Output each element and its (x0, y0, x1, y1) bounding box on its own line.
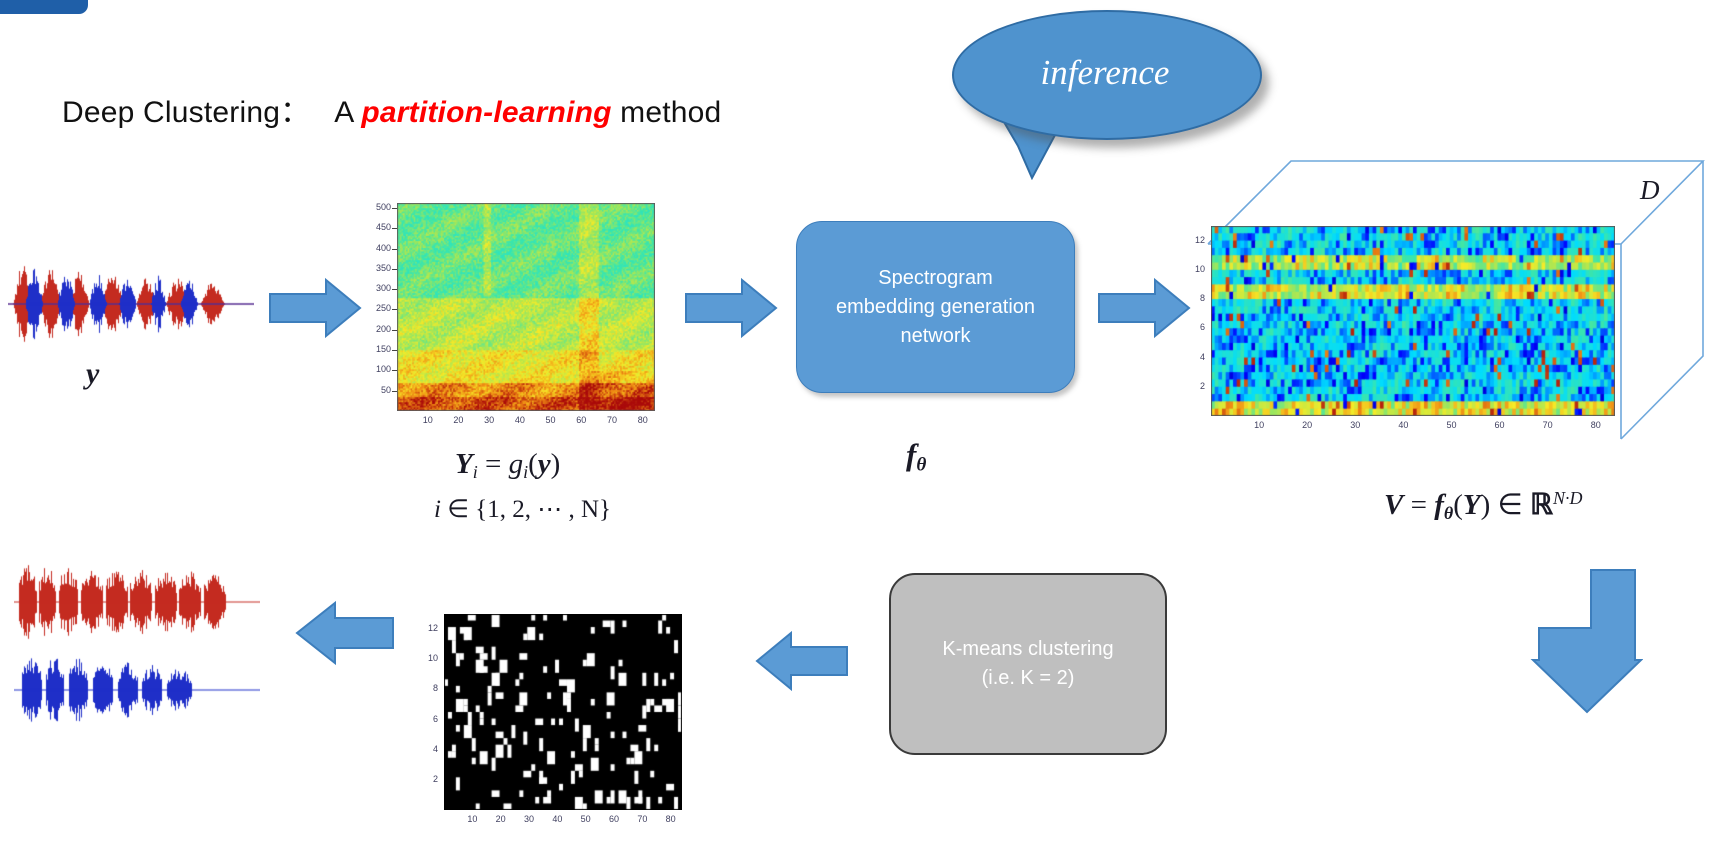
axis-tick-mark (392, 370, 397, 371)
axis-tick-mark (392, 309, 397, 310)
axis-tick-label: 60 (1491, 420, 1509, 430)
axis-tick-label: 4 (420, 744, 438, 754)
network-box-line2: embedding generation (836, 293, 1035, 322)
axis-tick-label: 150 (367, 344, 391, 354)
axis-tick-label: 50 (542, 415, 560, 425)
axis-tick-label: 250 (367, 303, 391, 313)
embedding-equation: V = fθ(Y) ∈ ℝN·D (1384, 487, 1582, 524)
axis-tick-label: 2 (420, 774, 438, 784)
index-set-equation: i ∈ {1, 2, ⋯ , N} (434, 494, 611, 524)
cube-depth-label: D (1640, 175, 1660, 206)
arrow-left-icon-1 (755, 630, 849, 692)
axis-tick-label: 30 (480, 415, 498, 425)
axis-tick-label: 30 (1346, 420, 1364, 430)
axis-tick-mark (392, 289, 397, 290)
axis-tick-mark (392, 391, 397, 392)
axis-tick-label: 350 (367, 263, 391, 273)
arrow-right-icon-1 (268, 277, 362, 339)
title-part-b: method (612, 96, 722, 129)
axis-tick-label: 100 (367, 364, 391, 374)
axis-tick-mark (392, 208, 397, 209)
network-box[interactable]: Spectrogram embedding generation network (796, 221, 1075, 393)
axis-tick-label: 50 (367, 385, 391, 395)
axis-tick-label: 2 (1185, 381, 1205, 391)
kmeans-box[interactable]: K-means clustering (i.e. K = 2) (889, 573, 1167, 755)
bubble-label: inference (952, 10, 1258, 136)
page-title: Deep Clustering： A partition-learning me… (62, 87, 721, 131)
arrow-right-icon-2 (684, 277, 778, 339)
axis-tick-label: 20 (492, 814, 510, 824)
binary-mask-plot (444, 614, 682, 810)
axis-tick-label: 80 (662, 814, 680, 824)
axis-tick-label: 60 (605, 814, 623, 824)
axis-tick-label: 30 (520, 814, 538, 824)
kmeans-box-line2: (i.e. K = 2) (942, 664, 1113, 693)
axis-tick-label: 10 (1185, 264, 1205, 274)
axis-tick-label: 10 (463, 814, 481, 824)
arrow-elbow-down-left-icon (1513, 568, 1643, 714)
corner-tab-decoration (0, 0, 88, 14)
axis-tick-label: 10 (420, 653, 438, 663)
spectrogram-equation: Yi = gi(y) (455, 448, 560, 483)
axis-tick-label: 8 (1185, 293, 1205, 303)
separated-waveform-2-plot (14, 648, 260, 732)
axis-tick-label: 6 (420, 714, 438, 724)
axis-tick-label: 12 (420, 623, 438, 633)
axis-tick-label: 80 (1587, 420, 1605, 430)
kmeans-box-line1: K-means clustering (942, 635, 1113, 664)
axis-tick-label: 70 (603, 415, 621, 425)
network-box-line3: network (836, 322, 1035, 351)
axis-tick-label: 20 (449, 415, 467, 425)
axis-tick-label: 200 (367, 324, 391, 334)
axis-tick-label: 6 (1185, 322, 1205, 332)
arrow-right-icon-3 (1097, 277, 1191, 339)
arrow-left-icon-2 (295, 600, 395, 666)
axis-tick-mark (392, 350, 397, 351)
input-waveform-label: y (86, 357, 99, 391)
title-part-a: A (334, 96, 361, 129)
axis-tick-label: 50 (1442, 420, 1460, 430)
axis-tick-label: 40 (511, 415, 529, 425)
axis-tick-label: 500 (367, 202, 391, 212)
title-lead: Deep Clustering： (62, 96, 310, 129)
input-spectrogram-plot (397, 203, 655, 411)
network-box-line1: Spectrogram (836, 264, 1035, 293)
slide-canvas: Deep Clustering： A partition-learning me… (0, 0, 1727, 854)
axis-tick-label: 300 (367, 283, 391, 293)
axis-tick-label: 10 (1250, 420, 1268, 430)
axis-tick-mark (392, 228, 397, 229)
axis-tick-label: 4 (1185, 352, 1205, 362)
axis-tick-mark (392, 269, 397, 270)
axis-tick-label: 50 (577, 814, 595, 824)
axis-tick-label: 12 (1185, 235, 1205, 245)
axis-tick-label: 40 (548, 814, 566, 824)
axis-tick-label: 20 (1298, 420, 1316, 430)
mixture-waveform-plot (8, 258, 254, 350)
axis-tick-label: 70 (633, 814, 651, 824)
axis-tick-label: 80 (634, 415, 652, 425)
network-function-label: fθ (906, 437, 926, 476)
axis-tick-label: 450 (367, 222, 391, 232)
title-emphasis: partition-learning (361, 96, 611, 129)
axis-tick-label: 8 (420, 683, 438, 693)
inference-callout: inference (952, 10, 1292, 180)
axis-tick-mark (392, 330, 397, 331)
axis-tick-mark (392, 249, 397, 250)
axis-tick-label: 40 (1394, 420, 1412, 430)
separated-waveform-1-plot (14, 560, 260, 644)
embedding-matrix-plot (1211, 226, 1615, 416)
axis-tick-label: 60 (572, 415, 590, 425)
axis-tick-label: 70 (1539, 420, 1557, 430)
axis-tick-label: 400 (367, 243, 391, 253)
axis-tick-label: 10 (419, 415, 437, 425)
